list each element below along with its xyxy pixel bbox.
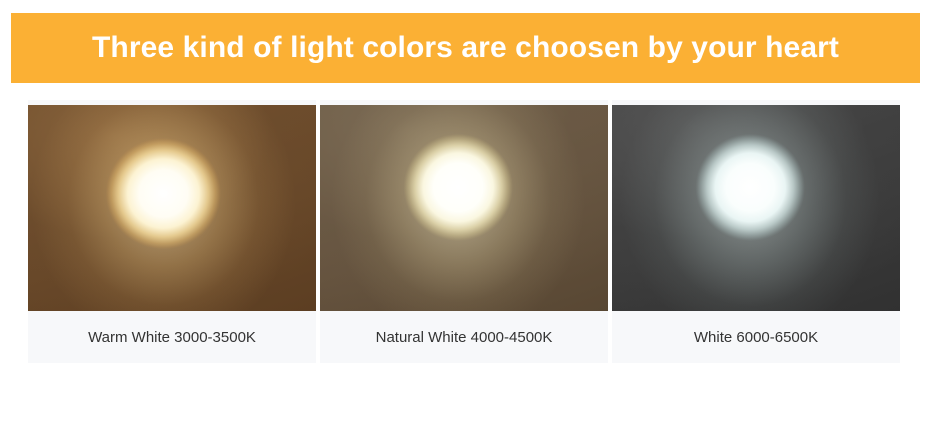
caption-text-warm-white: Warm White 3000-3500K — [88, 330, 256, 345]
cool-white-glow-layer — [612, 105, 900, 311]
warm-white-light-photo — [28, 105, 316, 311]
headline-banner: Three kind of light colors are choosen b… — [11, 13, 920, 83]
caption-warm-white: Warm White 3000-3500K — [28, 311, 316, 363]
color-card-warm-white[interactable]: Warm White 3000-3500K — [28, 100, 316, 363]
caption-text-cool-white: White 6000-6500K — [694, 330, 818, 345]
warm-white-glow-layer — [28, 105, 316, 311]
natural-white-light-photo — [320, 105, 608, 311]
caption-text-natural-white: Natural White 4000-4500K — [376, 330, 553, 345]
page-root: Three kind of light colors are choosen b… — [0, 0, 930, 424]
banner-title: Three kind of light colors are choosen b… — [92, 33, 839, 63]
color-card-cool-white[interactable]: White 6000-6500K — [612, 100, 900, 363]
caption-cool-white: White 6000-6500K — [612, 311, 900, 363]
color-card-natural-white[interactable]: Natural White 4000-4500K — [320, 100, 608, 363]
caption-natural-white: Natural White 4000-4500K — [320, 311, 608, 363]
cool-white-light-photo — [612, 105, 900, 311]
color-temperature-card-row: Warm White 3000-3500K Natural White 4000… — [28, 100, 898, 363]
natural-white-glow-layer — [320, 105, 608, 311]
